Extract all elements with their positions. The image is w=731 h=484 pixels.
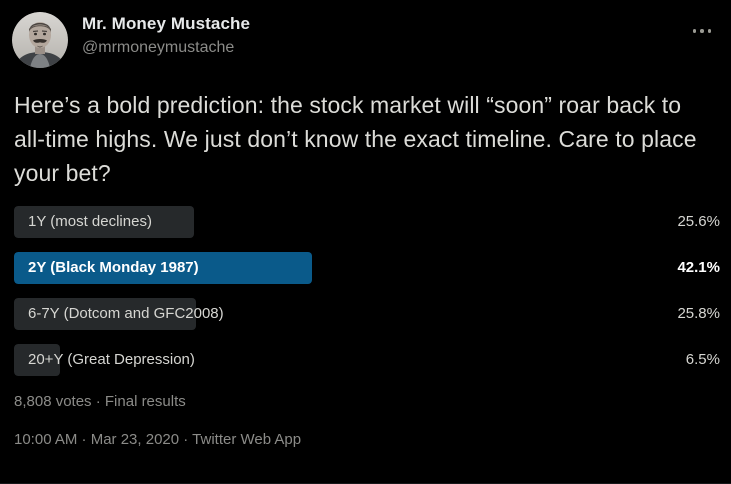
poll-option[interactable]: 20+Y (Great Depression) 6.5% xyxy=(14,344,720,376)
tweet-card: Mr. Money Mustache @mrmoneymustache Here… xyxy=(0,0,731,484)
poll-option-percent: 25.8% xyxy=(677,298,720,330)
poll-option-label: 1Y (most declines) xyxy=(14,206,152,238)
tweet-header: Mr. Money Mustache @mrmoneymustache xyxy=(0,0,731,80)
more-options-button[interactable] xyxy=(685,14,719,48)
author-identity: Mr. Money Mustache @mrmoneymustache xyxy=(82,12,685,59)
poll-option[interactable]: 2Y (Black Monday 1987) 42.1% xyxy=(14,252,720,284)
poll-results-summary: 8,808 votes · Final results xyxy=(0,376,731,412)
poll-option[interactable]: 6-7Y (Dotcom and GFC2008) 25.8% xyxy=(14,298,720,330)
poll-option-percent: 25.6% xyxy=(677,206,720,238)
avatar-photo xyxy=(12,12,68,68)
poll-option-percent: 6.5% xyxy=(686,344,720,376)
poll-option-label: 2Y (Black Monday 1987) xyxy=(14,252,199,284)
poll-option[interactable]: 1Y (most declines) 25.6% xyxy=(14,206,720,238)
poll-option-label: 6-7Y (Dotcom and GFC2008) xyxy=(14,298,224,330)
tweet-timestamp[interactable]: 10:00 AM · Mar 23, 2020 · Twitter Web Ap… xyxy=(0,412,731,450)
author-display-name[interactable]: Mr. Money Mustache xyxy=(82,13,685,35)
author-handle[interactable]: @mrmoneymustache xyxy=(82,37,685,59)
more-horizontal-icon xyxy=(693,29,712,33)
tweet-text: Here’s a bold prediction: the stock mark… xyxy=(0,80,731,190)
poll-option-label: 20+Y (Great Depression) xyxy=(14,344,195,376)
poll: 1Y (most declines) 25.6% 2Y (Black Monda… xyxy=(0,206,731,376)
poll-option-percent: 42.1% xyxy=(677,252,720,284)
avatar[interactable] xyxy=(12,12,68,68)
